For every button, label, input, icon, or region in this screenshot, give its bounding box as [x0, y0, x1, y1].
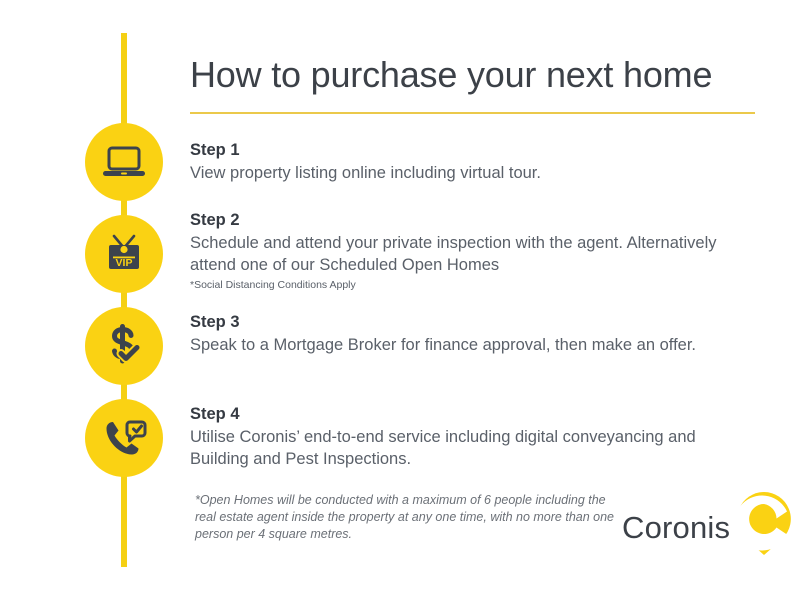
open-homes-footnote: *Open Homes will be conducted with a max… [195, 492, 625, 543]
step-item-4: Step 4 Utilise Coronis’ end-to-end servi… [190, 404, 750, 470]
step-3-heading: Step 3 [190, 312, 750, 332]
phone-chat-check-icon [100, 414, 148, 462]
step-1-heading: Step 1 [190, 140, 750, 160]
step-2-heading: Step 2 [190, 210, 750, 230]
step-3-body: Speak to a Mortgage Broker for finance a… [190, 334, 730, 356]
title-underline-rule [190, 112, 755, 114]
step-item-2: Step 2 Schedule and attend your private … [190, 210, 750, 292]
step-item-3: Step 3 Speak to a Mortgage Broker for fi… [190, 312, 750, 356]
step-4-heading: Step 4 [190, 404, 750, 424]
step-1-icon-circle [85, 123, 163, 201]
svg-text:VIP: VIP [116, 257, 133, 269]
page-title: How to purchase your next home [190, 54, 712, 96]
coronis-logo: Coronis [622, 490, 787, 560]
step-3-icon-circle [85, 307, 163, 385]
logo-wordmark: Coronis [622, 510, 730, 546]
step-4-icon-circle [85, 399, 163, 477]
infographic-canvas: VIP [0, 0, 800, 600]
step-4-body: Utilise Coronis’ end-to-end service incl… [190, 426, 730, 470]
coronis-c-pin-icon [735, 490, 793, 556]
step-2-icon-circle: VIP [85, 215, 163, 293]
laptop-icon [100, 138, 148, 186]
vip-ticket-icon: VIP [100, 230, 148, 278]
dollar-check-icon [100, 322, 148, 370]
step-2-body: Schedule and attend your private inspect… [190, 232, 730, 276]
step-1-body: View property listing online including v… [190, 162, 730, 184]
step-2-note: *Social Distancing Conditions Apply [190, 278, 750, 292]
step-item-1: Step 1 View property listing online incl… [190, 140, 750, 184]
timeline-rail [121, 33, 127, 567]
